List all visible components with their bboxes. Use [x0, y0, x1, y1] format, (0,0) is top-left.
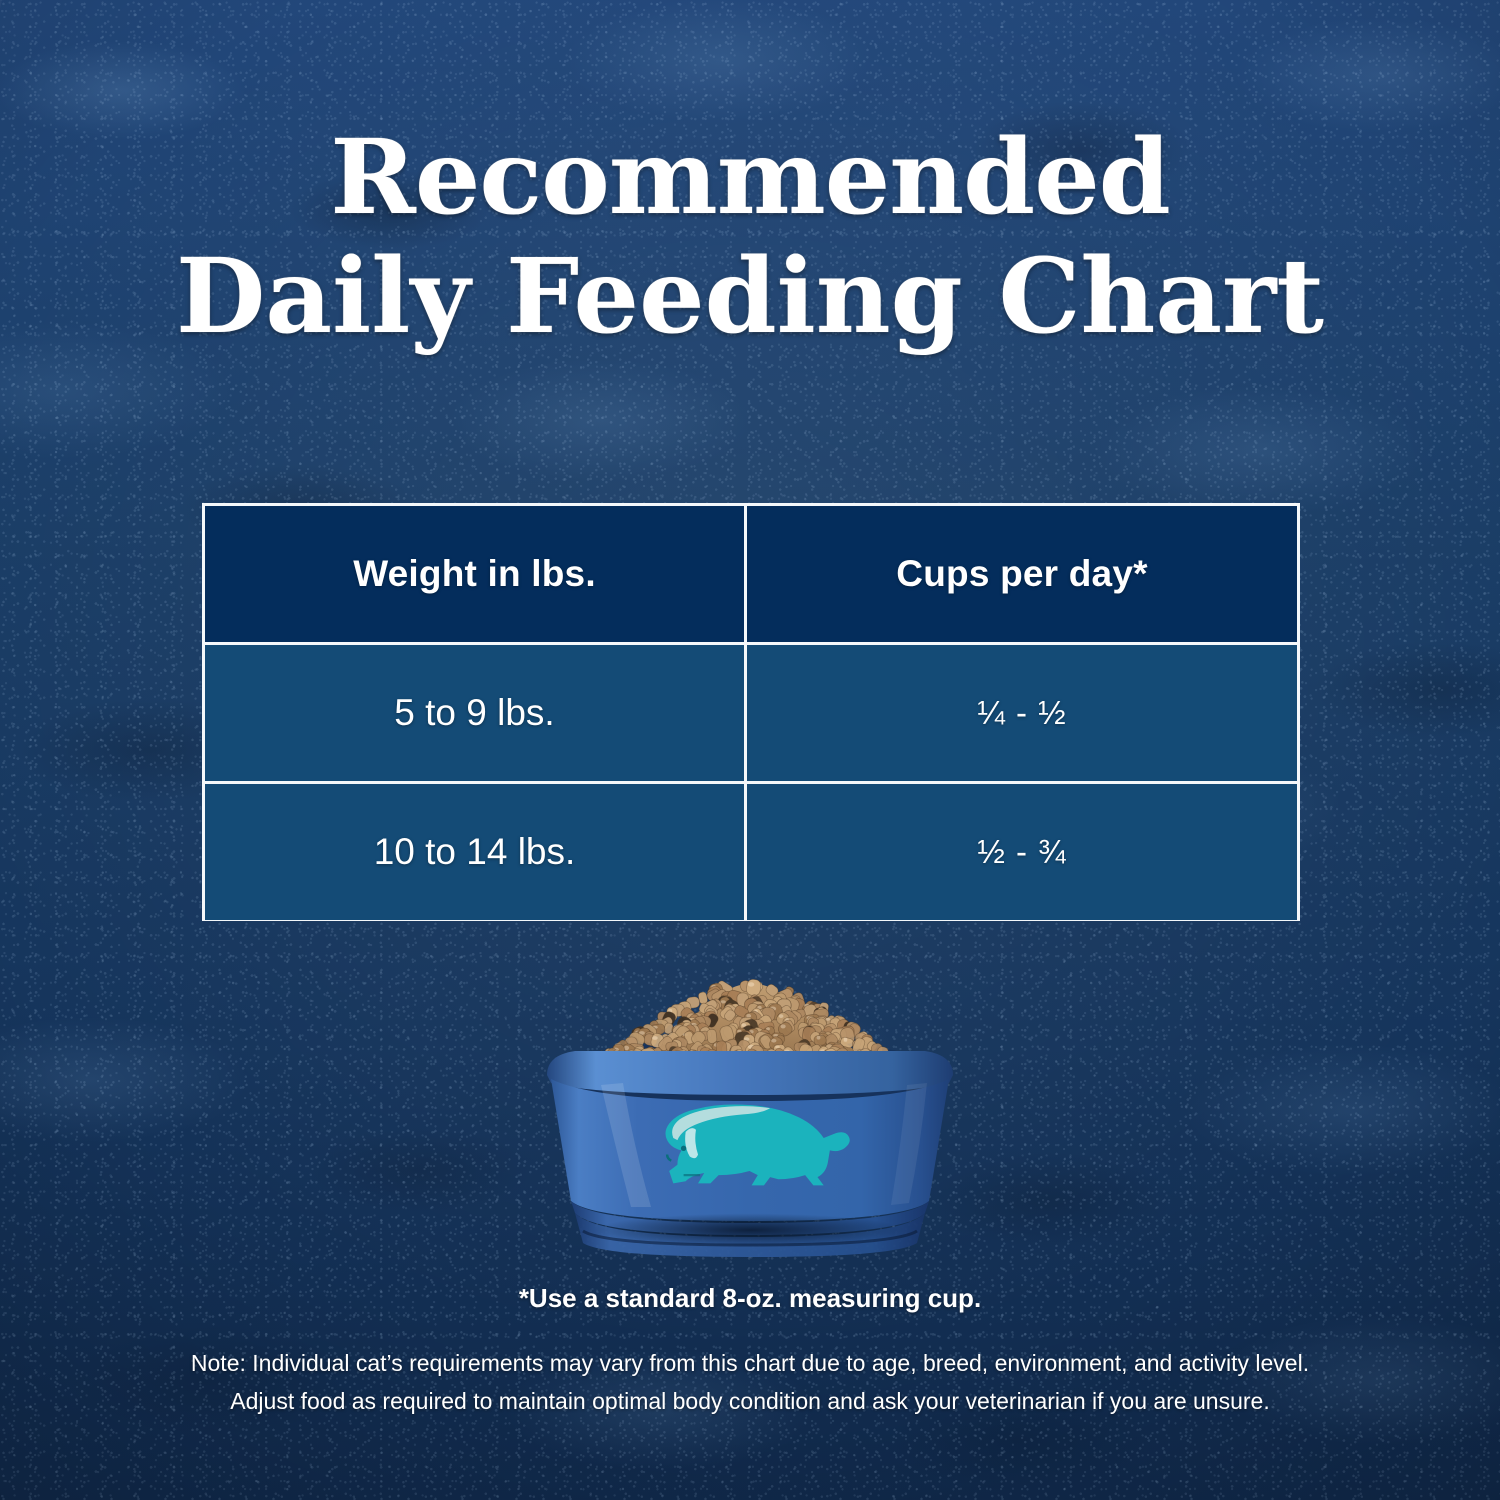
disclaimer-note-line-2: Adjust food as required to maintain opti… — [100, 1383, 1400, 1421]
cell-weight-range: 10 to 14 lbs. — [205, 784, 744, 920]
bowl-drop-shadow — [535, 1207, 965, 1253]
table-header-weight: Weight in lbs. — [205, 506, 744, 642]
table-header-row: Weight in lbs. Cups per day* — [205, 506, 1297, 642]
pet-food-bowl-illustration — [505, 955, 995, 1265]
table-row: 5 to 9 lbs. ¼ - ½ — [205, 645, 1297, 781]
disclaimer-note: Note: Individual cat’s requirements may … — [0, 1345, 1500, 1421]
table-row: 10 to 14 lbs. ½ - ¾ — [205, 784, 1297, 920]
cell-weight-range: 5 to 9 lbs. — [205, 645, 744, 781]
feeding-chart-table: Weight in lbs. Cups per day* 5 to 9 lbs.… — [202, 503, 1300, 921]
page-title: Recommended Daily Feeding Chart — [0, 118, 1500, 357]
feeding-chart-page: Recommended Daily Feeding Chart Weight i… — [0, 0, 1500, 1500]
measuring-cup-footnote: *Use a standard 8-oz. measuring cup. — [0, 1283, 1500, 1314]
cell-cups-amount: ½ - ¾ — [747, 784, 1297, 920]
cell-cups-amount: ¼ - ½ — [747, 645, 1297, 781]
table-header-cups: Cups per day* — [747, 506, 1297, 642]
page-title-line-1: Recommended — [90, 118, 1410, 237]
disclaimer-note-line-1: Note: Individual cat’s requirements may … — [100, 1345, 1400, 1383]
page-title-line-2: Daily Feeding Chart — [90, 237, 1410, 356]
